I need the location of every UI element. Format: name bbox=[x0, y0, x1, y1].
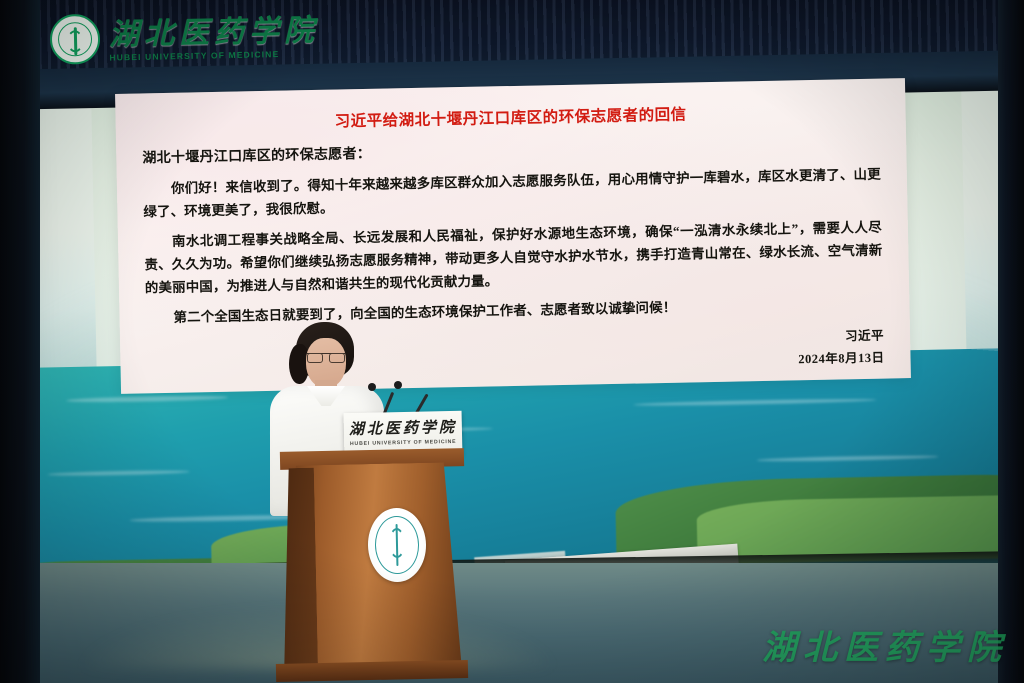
speaker-glasses bbox=[307, 353, 345, 361]
lectern-podium: 湖北医药学院 HUBEI UNIVERSITY OF MEDICINE bbox=[262, 412, 462, 683]
letter-paragraph-2: 南水北调工程事关战略全局、长远发展和人民福祉，保护好水源地生态环境，确保“一泓清… bbox=[144, 216, 883, 300]
logo-name-cn: 湖北医药学院 bbox=[109, 16, 320, 50]
hall-right-wall bbox=[998, 0, 1024, 683]
podium-nameplate-cn: 湖北医药学院 bbox=[349, 421, 457, 438]
microphone-left-head bbox=[368, 383, 376, 391]
displayed-letter-card: 习近平给湖北十堰丹江口库区的环保志愿者的回信 湖北十堰丹江口库区的环保志愿者： … bbox=[115, 78, 911, 394]
hall-left-wall bbox=[0, 0, 40, 683]
letter-title: 习近平给湖北十堰丹江口库区的环保志愿者的回信 bbox=[141, 99, 879, 136]
podium-nameplate-en: HUBEI UNIVERSITY OF MEDICINE bbox=[350, 439, 457, 447]
podium-base bbox=[276, 660, 468, 682]
caduceus-seal-icon bbox=[50, 14, 101, 65]
watermark-university-name: 湖北医药学院 bbox=[762, 620, 1008, 669]
podium-side-panel bbox=[280, 468, 318, 674]
microphone-right-head bbox=[394, 381, 402, 389]
logo-name-en: HUBEI UNIVERSITY OF MEDICINE bbox=[109, 49, 319, 62]
auditorium-stage-scene: 湖北医药学院 HUBEI UNIVERSITY OF MEDICINE 习近平给… bbox=[0, 0, 1024, 683]
letter-salutation: 湖北十堰丹江口库区的环保志愿者： bbox=[142, 133, 880, 168]
letter-paragraph-1: 你们好！来信收到了。得知十年来越来越多库区群众加入志愿服务队伍，用心用情守护一库… bbox=[143, 163, 882, 224]
university-logo: 湖北医药学院 HUBEI UNIVERSITY OF MEDICINE bbox=[50, 9, 320, 65]
